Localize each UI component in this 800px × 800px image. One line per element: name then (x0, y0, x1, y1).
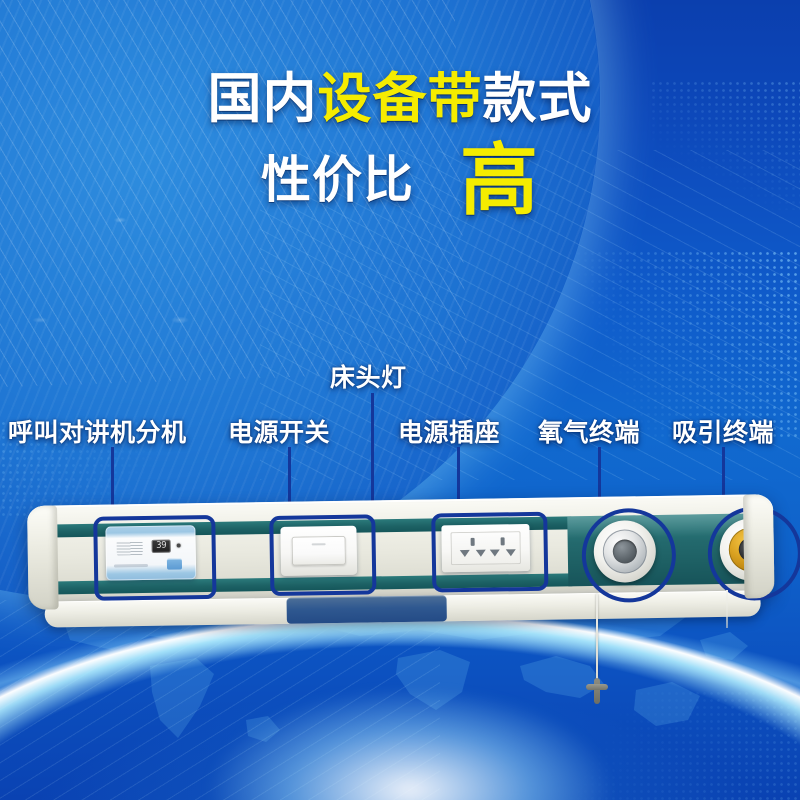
oxygen-terminal-cord (596, 594, 598, 686)
cord-pull-handle[interactable] (586, 678, 608, 704)
callout-label-suction-terminal: 吸引终端 (672, 413, 774, 449)
cord-handle-cross-icon (586, 684, 608, 690)
callout-label-intercom: 呼叫对讲机分机 (8, 413, 187, 449)
product-banner: 国内设备带款式 性价比高 呼叫对讲机分机 电源开关 床头灯 电源插座 氧气终端 … (0, 0, 800, 800)
cord-handle-stem-icon (594, 678, 600, 704)
callout-label-oxygen-terminal: 氧气终端 (538, 413, 640, 449)
panel-end-cap-left (27, 505, 59, 609)
callout-label-power-switch: 电源开关 (228, 413, 330, 449)
headline-line-1: 国内设备带款式 (0, 72, 800, 126)
callout-label-bed-lamp: 床头灯 (330, 358, 407, 394)
horizon-arc-outer (0, 610, 800, 800)
panel-rail-accent (287, 595, 447, 624)
panel-end-cap-right (743, 494, 775, 598)
highlight-box-power-switch (269, 514, 376, 596)
halftone-dots-right (540, 250, 800, 440)
highlight-box-power-socket (431, 512, 548, 593)
horizon-arc-glow (0, 610, 800, 800)
halftone-dots-bottom (540, 690, 800, 800)
headline-block: 国内设备带款式 性价比高 (0, 72, 800, 220)
headline-seg-2-accent: 设备带 (318, 67, 483, 130)
bed-head-unit: 39 (27, 494, 775, 636)
headline-seg-1: 国内 (208, 67, 318, 130)
highlight-box-intercom (93, 515, 216, 601)
suction-terminal-cord (726, 590, 728, 628)
headline-seg-3: 款式 (483, 67, 593, 130)
callout-label-power-socket: 电源插座 (398, 413, 500, 449)
headline-line-2: 性价比高 (0, 142, 800, 220)
headline-value-accent: 高 (460, 136, 539, 226)
headline-value-text: 性价比 (261, 151, 414, 209)
